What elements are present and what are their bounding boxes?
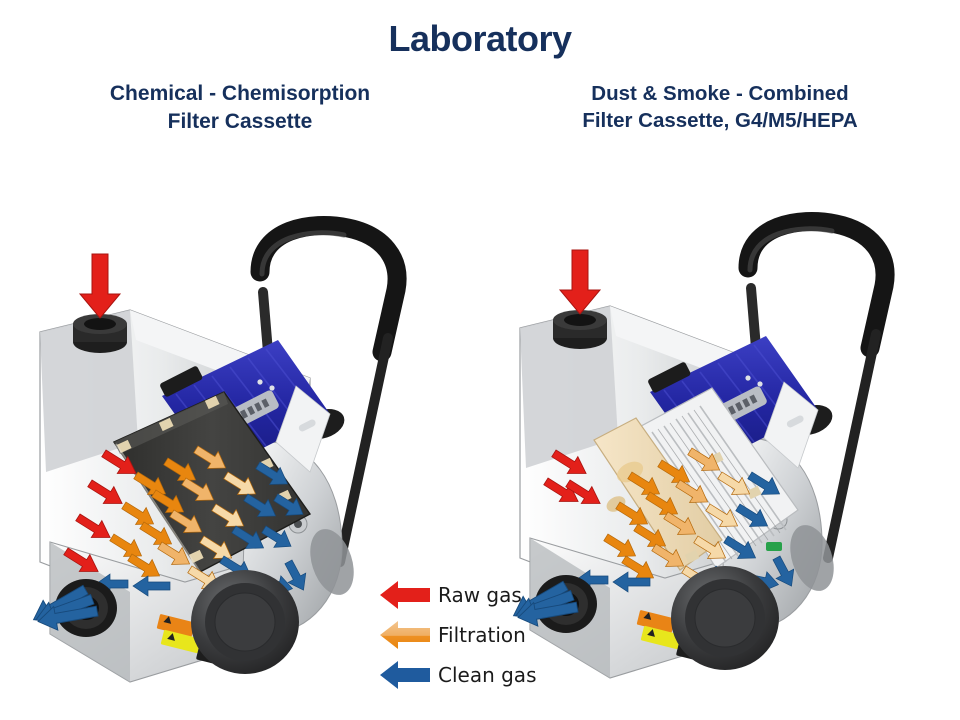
inlet-port [73,314,127,353]
legend-item-clean-gas: Clean gas [378,655,578,695]
legend-item-filtration: Filtration [378,615,578,655]
left-arrow-icon [378,660,430,690]
legend: Raw gas Filtration Clean gas [378,575,578,695]
raw-gas-inlet-arrow [80,254,120,318]
wheel [671,566,779,670]
wheel [191,570,299,674]
left-arrow-icon [378,580,430,610]
page-title: Laboratory [0,18,960,60]
panel-heading-dust-smoke: Dust & Smoke - Combined Filter Cassette,… [490,80,950,134]
heading-line-1: Chemical - Chemisorption [10,80,470,108]
heading-line-2: Filter Cassette [10,108,470,136]
inlet-port [553,310,607,349]
heading-line-2: Filter Cassette, G4/M5/HEPA [490,107,950,134]
heading-line-1: Dust & Smoke - Combined [490,80,950,107]
legend-label-clean-gas: Clean gas [438,663,537,687]
raw-gas-inlet-arrow [560,250,600,314]
left-arrow-icon [378,620,430,650]
legend-label-filtration: Filtration [438,623,526,647]
panel-heading-chemical: Chemical - Chemisorption Filter Cassette [10,80,470,135]
legend-item-raw-gas: Raw gas [378,575,578,615]
legend-label-raw-gas: Raw gas [438,583,522,607]
